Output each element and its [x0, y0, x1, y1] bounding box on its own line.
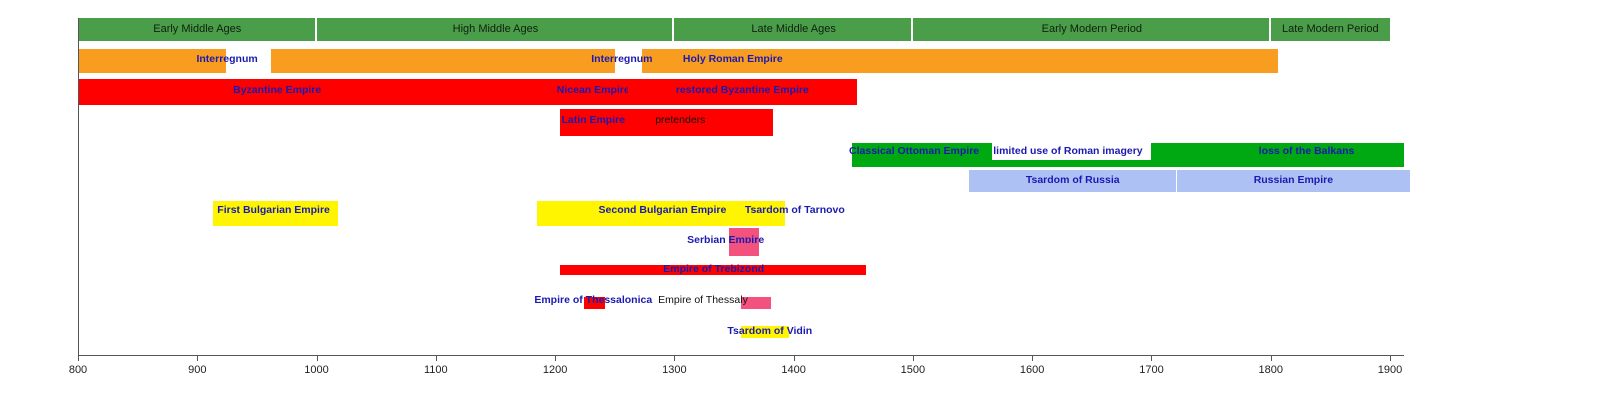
tsardom-of-tarnovo-label: Tsardom of Tarnovo — [745, 205, 845, 216]
x-axis-tick-label: 1000 — [304, 364, 328, 376]
x-axis-tick-label: 1700 — [1139, 364, 1163, 376]
era-label: Late Modern Period — [1282, 24, 1379, 35]
russian-empire-label: Russian Empire — [1254, 175, 1333, 186]
era-label: High Middle Ages — [453, 24, 539, 35]
x-axis-tick — [1032, 355, 1033, 361]
x-axis-tick — [794, 355, 795, 361]
byzantine-empire-label: Byzantine Empire — [233, 85, 321, 96]
empire-of-thessalonica-label: Empire of Thessalonica — [534, 295, 652, 306]
pretenders-label: pretenders — [655, 115, 705, 126]
x-axis-tick — [1271, 355, 1272, 361]
classical-ottoman-empire-label: Classical Ottoman Empire — [849, 146, 979, 157]
x-axis-tick — [674, 355, 675, 361]
x-axis-tick-label: 1800 — [1258, 364, 1282, 376]
x-axis-tick — [913, 355, 914, 361]
x-axis-tick — [197, 355, 198, 361]
limited-use-of-roman-imagery-label: limited use of Roman imagery — [993, 146, 1142, 157]
y-axis-line — [78, 18, 79, 355]
era-label: Early Modern Period — [1042, 24, 1142, 35]
tsardom-of-russia-label: Tsardom of Russia — [1026, 175, 1120, 186]
holy-roman-empire-label-label: Holy Roman Empire — [683, 54, 783, 65]
x-axis-tick — [1151, 355, 1152, 361]
second-bulgarian-empire-label: Second Bulgarian Empire — [599, 205, 727, 216]
x-axis-tick-label: 1200 — [543, 364, 567, 376]
x-axis-tick — [555, 355, 556, 361]
ottoman-empire-continuation — [852, 160, 1404, 167]
interregnum-2-label: Interregnum — [591, 54, 652, 65]
empire-of-trebizond-label: Empire of Trebizond — [663, 264, 764, 275]
x-axis-tick — [436, 355, 437, 361]
restored-byzantine-empire-label: restored Byzantine Empire — [676, 85, 809, 96]
x-axis-tick — [1390, 355, 1391, 361]
x-axis-line — [78, 355, 1404, 356]
loss-of-the-balkans-label: loss of the Balkans — [1259, 146, 1355, 157]
x-axis-tick-label: 1400 — [781, 364, 805, 376]
interregnum-1-label: Interregnum — [196, 54, 257, 65]
tsardom-of-vidin-label: Tsardom of Vidin — [727, 326, 812, 337]
x-axis-tick-label: 1100 — [424, 364, 448, 376]
timeline-chart: Early Middle AgesHigh Middle AgesLate Mi… — [0, 0, 1600, 400]
era-label: Late Middle Ages — [751, 24, 835, 35]
empire-of-thessaly-label: Empire of Thessaly — [658, 295, 748, 306]
x-axis-tick-label: 1500 — [901, 364, 925, 376]
x-axis-tick — [78, 355, 79, 361]
x-axis-tick-label: 1900 — [1378, 364, 1402, 376]
latin-empire-label: Latin Empire — [561, 115, 625, 126]
x-axis-tick — [317, 355, 318, 361]
x-axis-tick-label: 900 — [188, 364, 206, 376]
first-bulgarian-empire-label: First Bulgarian Empire — [217, 205, 330, 216]
serbian-empire-stub — [729, 243, 759, 256]
x-axis-tick-label: 800 — [69, 364, 87, 376]
nicean-empire-label: Nicean Empire — [557, 85, 630, 96]
x-axis-tick-label: 1600 — [1020, 364, 1044, 376]
era-label: Early Middle Ages — [153, 24, 241, 35]
x-axis-tick-label: 1300 — [662, 364, 686, 376]
